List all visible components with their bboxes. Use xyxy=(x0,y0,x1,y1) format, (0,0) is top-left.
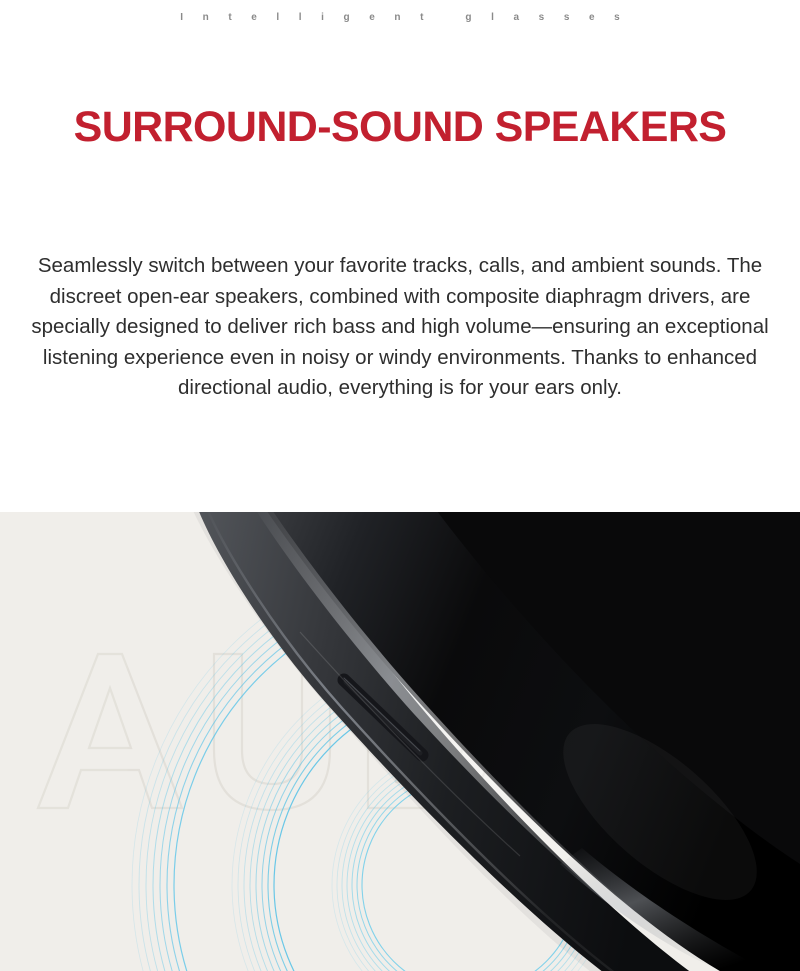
page-title: SURROUND-SOUND SPEAKERS xyxy=(60,96,740,159)
product-feature-page: Intelligent glasses SURROUND-SOUND SPEAK… xyxy=(0,0,800,971)
hero-description: Seamlessly switch between your favorite … xyxy=(20,251,780,404)
product-hero-image xyxy=(0,512,800,971)
product-image-section xyxy=(0,512,800,971)
text-section: Intelligent glasses SURROUND-SOUND SPEAK… xyxy=(0,0,800,512)
eyebrow-label: Intelligent glasses xyxy=(0,12,800,23)
